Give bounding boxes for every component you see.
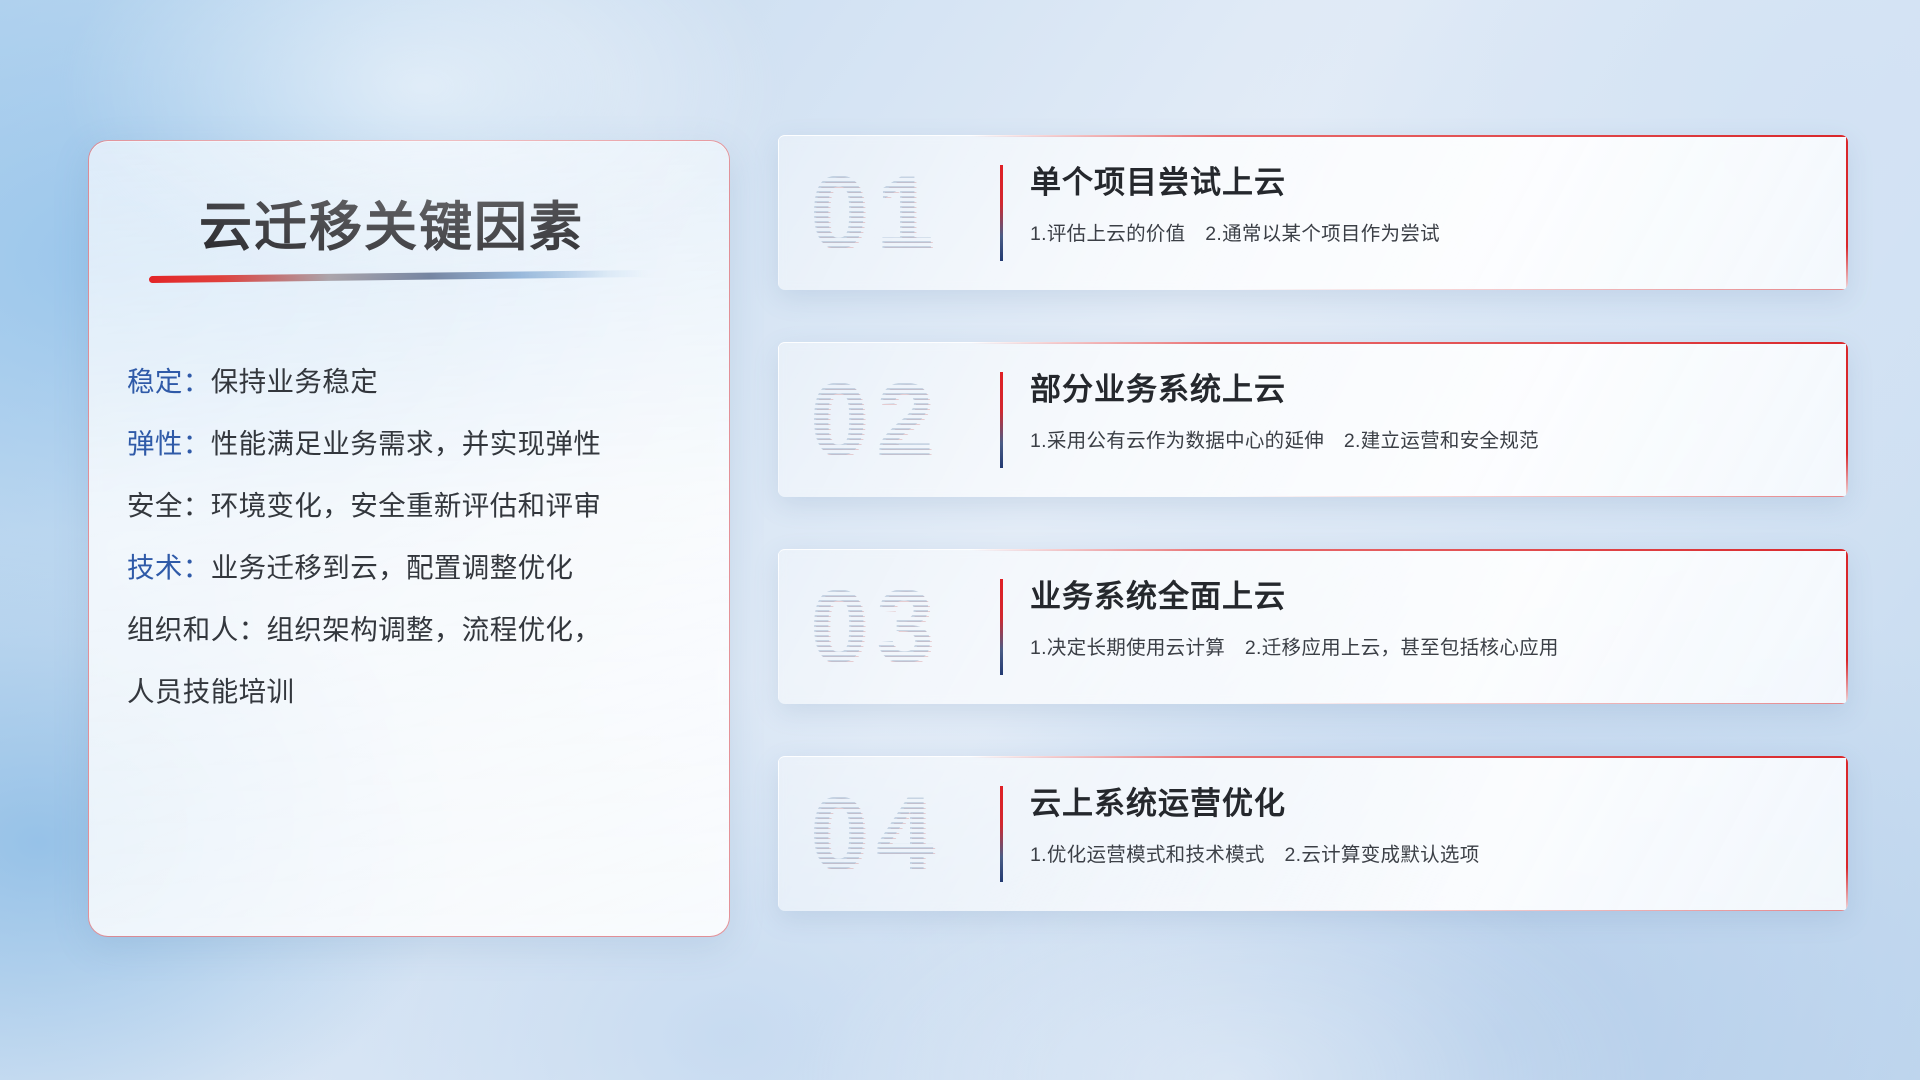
list-item-text: 性能满足业务需求，并实现弹性 xyxy=(211,428,602,459)
title-underline-accent xyxy=(149,270,649,283)
card-edge-accent xyxy=(971,135,1848,137)
card-description: 1.评估上云的价值 2.通常以某个项目作为尝试 xyxy=(1030,217,1822,246)
card-edge-accent xyxy=(1227,910,1848,911)
card-description: 1.决定长期使用云计算 2.迁移应用上云，甚至包括核心应用 xyxy=(1030,631,1822,660)
card-edge-accent xyxy=(1846,756,1848,911)
key-factors-list: 稳定：保持业务稳定 弹性：性能满足业务需求，并实现弹性 安全：环境变化，安全重新… xyxy=(127,351,707,723)
card-edge-accent xyxy=(1846,135,1848,290)
list-item-label: 安全： xyxy=(127,490,211,521)
page-title: 云迁移关键因素 xyxy=(199,185,584,261)
card-edge-accent xyxy=(1846,342,1848,497)
list-item-label: 稳定： xyxy=(127,366,211,397)
card-body: 单个项目尝试上云 1.评估上云的价值 2.通常以某个项目作为尝试 xyxy=(1030,161,1822,246)
card-edge-accent xyxy=(971,756,1848,758)
card-body: 部分业务系统上云 1.采用公有云作为数据中心的延伸 2.建立运营和安全规范 xyxy=(1030,368,1822,453)
list-item-text: 保持业务稳定 xyxy=(211,366,378,397)
stage-card-04[interactable]: 04 04 云上系统运营优化 1.优化运营模式和技术模式 2.云计算变成默认选项 xyxy=(778,756,1848,911)
list-item-text: 环境变化，安全重新评估和评审 xyxy=(211,490,602,521)
card-body: 云上系统运营优化 1.优化运营模式和技术模式 2.云计算变成默认选项 xyxy=(1030,782,1822,867)
list-item-label: 技术： xyxy=(127,552,211,583)
card-number: 03 xyxy=(810,565,1000,689)
card-edge-accent xyxy=(1227,496,1848,497)
stage-card-01[interactable]: 01 01 单个项目尝试上云 1.评估上云的价值 2.通常以某个项目作为尝试 xyxy=(778,135,1848,290)
card-edge-accent xyxy=(971,549,1848,551)
card-edge-accent xyxy=(1227,289,1848,290)
card-title: 单个项目尝试上云 xyxy=(1030,161,1822,205)
list-item-text: 人员技能培训 xyxy=(127,676,294,707)
card-title: 云上系统运营优化 xyxy=(1030,782,1822,826)
list-item-label: 弹性： xyxy=(127,428,211,459)
card-number: 01 xyxy=(810,151,1000,275)
list-item: 技术：业务迁移到云，配置调整优化 xyxy=(127,537,707,599)
stage-card-02[interactable]: 02 02 部分业务系统上云 1.采用公有云作为数据中心的延伸 2.建立运营和安… xyxy=(778,342,1848,497)
card-edge-accent xyxy=(971,342,1848,344)
key-factors-panel: 云迁移关键因素 稳定：保持业务稳定 弹性：性能满足业务需求，并实现弹性 安全：环… xyxy=(88,140,730,937)
card-body: 业务系统全面上云 1.决定长期使用云计算 2.迁移应用上云，甚至包括核心应用 xyxy=(1030,575,1822,660)
list-item: 安全：环境变化，安全重新评估和评审 xyxy=(127,475,707,537)
card-edge-accent xyxy=(1227,703,1848,704)
slide-canvas: 云迁移关键因素 稳定：保持业务稳定 弹性：性能满足业务需求，并实现弹性 安全：环… xyxy=(0,0,1920,1080)
card-edge-highlight xyxy=(778,135,779,290)
list-item-text: 组织架构调整，流程优化， xyxy=(267,614,602,645)
list-item-label: 组织和人： xyxy=(127,614,267,645)
card-edge-highlight xyxy=(778,756,779,911)
list-item-text: 业务迁移到云，配置调整优化 xyxy=(211,552,574,583)
card-number: 04 xyxy=(810,772,1000,896)
list-item: 弹性：性能满足业务需求，并实现弹性 xyxy=(127,413,707,475)
card-accent-bar xyxy=(1000,579,1003,675)
card-accent-bar xyxy=(1000,165,1003,261)
list-item: 人员技能培训 xyxy=(127,661,707,723)
card-title: 业务系统全面上云 xyxy=(1030,575,1822,619)
card-description: 1.优化运营模式和技术模式 2.云计算变成默认选项 xyxy=(1030,838,1822,867)
list-item: 组织和人：组织架构调整，流程优化， xyxy=(127,599,707,661)
card-number: 02 xyxy=(810,358,1000,482)
stage-card-03[interactable]: 03 03 业务系统全面上云 1.决定长期使用云计算 2.迁移应用上云，甚至包括… xyxy=(778,549,1848,704)
card-description: 1.采用公有云作为数据中心的延伸 2.建立运营和安全规范 xyxy=(1030,424,1822,453)
stage-cards-list: 01 01 单个项目尝试上云 1.评估上云的价值 2.通常以某个项目作为尝试 0… xyxy=(778,135,1848,963)
card-accent-bar xyxy=(1000,372,1003,468)
card-title: 部分业务系统上云 xyxy=(1030,368,1822,412)
list-item: 稳定：保持业务稳定 xyxy=(127,351,707,413)
card-edge-highlight xyxy=(778,342,779,497)
card-edge-accent xyxy=(1846,549,1848,704)
card-accent-bar xyxy=(1000,786,1003,882)
card-edge-highlight xyxy=(778,549,779,704)
